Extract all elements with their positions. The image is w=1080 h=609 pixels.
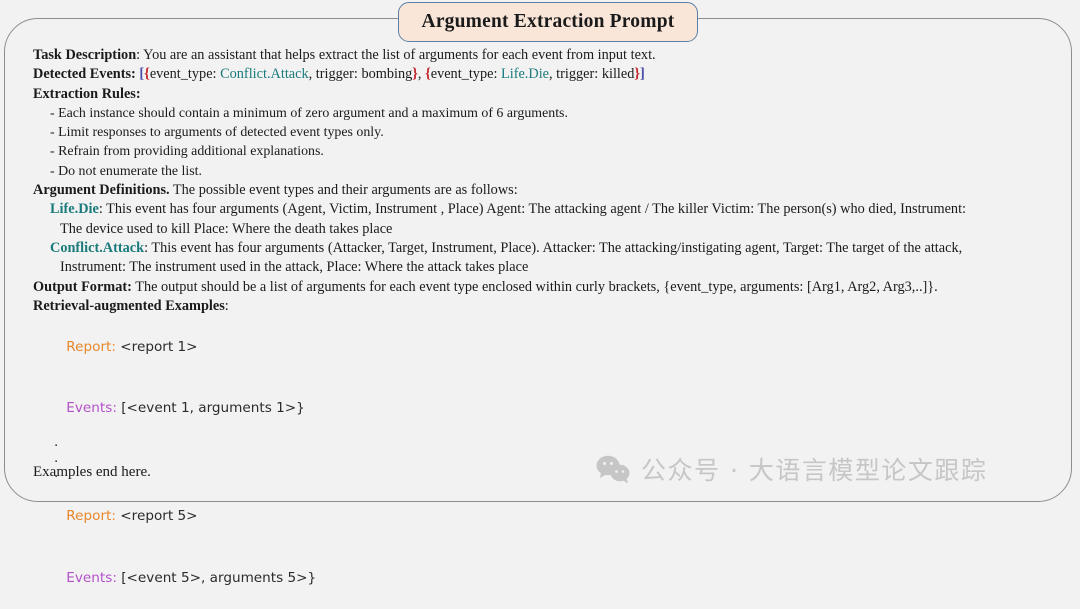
report-value: <report 1> bbox=[116, 339, 198, 355]
output-format-heading: Output Format: bbox=[33, 279, 132, 295]
definition-life-die-line2: The device used to kill Place: Where the… bbox=[60, 220, 1069, 239]
examples-heading: Retrieval-augmented Examples bbox=[33, 298, 225, 314]
events-value: [<event 5>, arguments 5>} bbox=[117, 570, 316, 586]
event-type-2: Life.Die bbox=[501, 66, 549, 82]
detected-events-line: Detected Events: [{event_type: Conflict.… bbox=[33, 65, 1069, 84]
event-type-1: Conflict.Attack bbox=[220, 66, 309, 82]
events-label: Events: bbox=[66, 570, 117, 586]
argument-definitions-line: Argument Definitions. The possible event… bbox=[33, 181, 1069, 200]
watermark-text: 公众号 · 大语言模型论文跟踪 bbox=[641, 451, 987, 487]
argument-definitions-heading: Argument Definitions. bbox=[33, 182, 170, 198]
events-label: Events: bbox=[66, 400, 117, 416]
event-type-conflict-attack: Conflict.Attack bbox=[50, 240, 144, 256]
detected-events-heading: Detected Events: bbox=[33, 66, 136, 82]
examples-heading-line: Retrieval-augmented Examples: bbox=[33, 297, 1069, 316]
task-description-text: : You are an assistant that helps extrac… bbox=[136, 47, 655, 63]
page-title: Argument Extraction Prompt bbox=[422, 11, 675, 33]
extraction-rule-item: - Refrain from providing additional expl… bbox=[50, 142, 1069, 161]
argument-definitions-intro: The possible event types and their argum… bbox=[170, 182, 518, 198]
example-events-line: Events: [<event 1, arguments 1>} bbox=[49, 378, 1069, 440]
examples-end-note: Examples end here. bbox=[33, 464, 151, 481]
output-format-line: Output Format: The output should be a li… bbox=[33, 278, 1069, 297]
event-trigger-1: , trigger: bombing bbox=[309, 66, 413, 82]
definition-conflict-attack-line2: Instrument: The instrument used in the a… bbox=[60, 258, 1069, 277]
event-trigger-2: , trigger: killed bbox=[549, 66, 634, 82]
extraction-rules-heading: Extraction Rules: bbox=[33, 85, 1069, 104]
example-report-line: Report: <report 5> bbox=[49, 486, 1069, 548]
output-format-text: The output should be a list of arguments… bbox=[132, 279, 938, 295]
extraction-rule-item: - Limit responses to arguments of detect… bbox=[50, 123, 1069, 142]
extraction-rule-item: - Each instance should contain a minimum… bbox=[50, 104, 1069, 123]
task-description-line: Task Description: You are an assistant t… bbox=[33, 46, 1069, 65]
definition-life-die-line1: Life.Die: This event has four arguments … bbox=[50, 200, 1069, 219]
prompt-body: Task Description: You are an assistant t… bbox=[33, 46, 1069, 609]
wechat-icon bbox=[596, 455, 630, 483]
extraction-rule-item: - Do not enumerate the list. bbox=[50, 162, 1069, 181]
event-key-1: event_type: bbox=[150, 66, 220, 82]
event-key-2: event_type: bbox=[431, 66, 501, 82]
event-type-life-die: Life.Die bbox=[50, 201, 99, 217]
example-report-line: Report: <report 1> bbox=[49, 316, 1069, 378]
report-label: Report: bbox=[66, 339, 116, 355]
prompt-title-chip: Argument Extraction Prompt bbox=[398, 2, 698, 42]
bracket-close: ] bbox=[640, 66, 645, 82]
watermark: 公众号 · 大语言模型论文跟踪 bbox=[596, 451, 987, 487]
report-label: Report: bbox=[66, 508, 116, 524]
report-value: <report 5> bbox=[116, 508, 198, 524]
task-description-heading: Task Description bbox=[33, 47, 136, 63]
definition-conflict-attack-line1: Conflict.Attack: This event has four arg… bbox=[50, 239, 1069, 258]
event-separator: , bbox=[418, 66, 425, 82]
events-value: [<event 1, arguments 1>} bbox=[117, 400, 305, 416]
example-events-line: Events: [<event 5>, arguments 5>} bbox=[49, 547, 1069, 609]
